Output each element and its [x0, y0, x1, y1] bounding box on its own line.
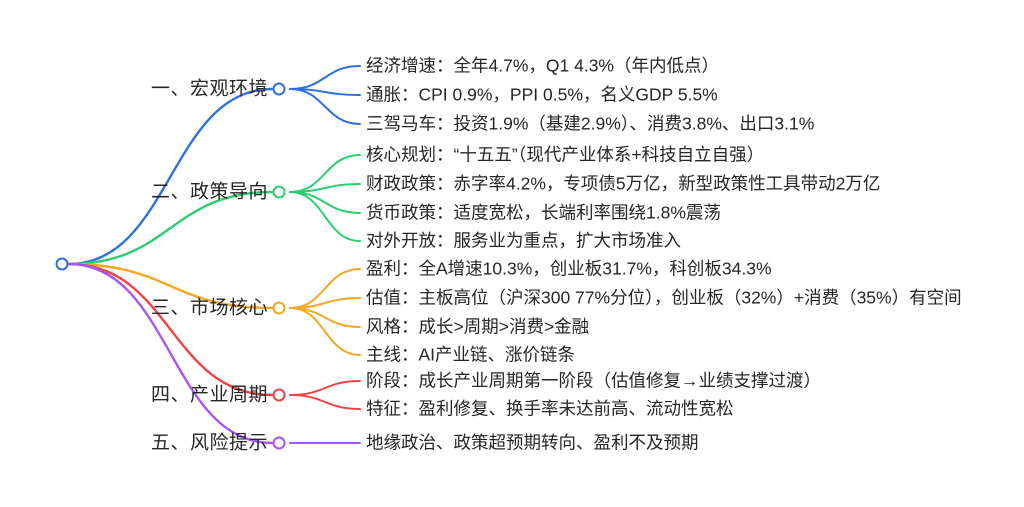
branch-label-2[interactable]: 二、政策导向 [151, 183, 268, 202]
edge-path [290, 89, 360, 95]
leaf-label-3-4[interactable]: 主线：AI产业链、涨价链条 [366, 346, 575, 364]
mindmap-canvas: 经济增速：全年4.7%，Q1 4.3%（年内低点）通胀：CPI 0.9%，PPI… [0, 0, 1024, 507]
branch-label-3[interactable]: 三、市场核心 [151, 299, 268, 318]
edge-path [290, 395, 360, 409]
branch-label-5[interactable]: 五、风险提示 [151, 434, 268, 453]
edge-path [69, 192, 272, 264]
branch-node-dot-2[interactable] [273, 186, 286, 199]
edge-path [290, 269, 360, 308]
edge-path [290, 89, 360, 124]
leaf-label-3-1[interactable]: 盈利：全A增速10.3%，创业板31.7%，科创板34.3% [366, 260, 772, 278]
leaf-label-2-1[interactable]: 核心规划：“十五五”（现代产业体系+科技自立自强） [366, 146, 764, 164]
edge-path [290, 381, 360, 395]
root-node-dot[interactable] [56, 258, 69, 271]
branch-node-dot-3[interactable] [273, 302, 286, 315]
leaf-label-5-1[interactable]: 地缘政治、政策超预期转向、盈利不及预期 [366, 434, 699, 452]
branch-label-4[interactable]: 四、产业周期 [151, 386, 268, 405]
edge-path [290, 184, 360, 192]
edge-path [290, 298, 360, 308]
edge-path [69, 264, 272, 395]
branch-label-1[interactable]: 一、宏观环境 [151, 80, 268, 99]
leaf-label-1-3[interactable]: 三驾马车：投资1.9%（基建2.9%）、消费3.8%、出口3.1% [366, 115, 814, 133]
leaf-label-4-2[interactable]: 特征：盈利修复、换手率未达前高、流动性宽松 [366, 400, 734, 418]
leaf-label-2-4[interactable]: 对外开放：服务业为重点，扩大市场准入 [366, 232, 681, 250]
branch-node-dot-5[interactable] [273, 437, 286, 450]
edge-path [290, 308, 360, 355]
branch-node-dot-1[interactable] [273, 83, 286, 96]
branch-node-dot-4[interactable] [273, 389, 286, 402]
leaf-label-1-1[interactable]: 经济增速：全年4.7%，Q1 4.3%（年内低点） [366, 57, 719, 75]
leaf-label-1-2[interactable]: 通胀：CPI 0.9%，PPI 0.5%，名义GDP 5.5% [366, 86, 718, 104]
edge-path [290, 192, 360, 241]
edge-path [290, 192, 360, 213]
leaf-label-3-3[interactable]: 风格：成长>周期>消费>金融 [366, 318, 589, 336]
leaf-label-3-2[interactable]: 估值：主板高位（沪深300 77%分位），创业板（32%）+消费（35%）有空间 [366, 289, 962, 307]
leaf-label-2-2[interactable]: 财政政策：赤字率4.2%，专项债5万亿，新型政策性工具带动2万亿 [366, 175, 880, 193]
edge-path [69, 264, 272, 443]
edge-path [290, 308, 360, 327]
edge-path [290, 66, 360, 89]
mindmap-edges [0, 0, 1024, 507]
leaf-label-4-1[interactable]: 阶段：成长产业周期第一阶段（估值修复→业绩支撑过渡） [366, 372, 821, 390]
edge-path [69, 89, 272, 264]
edge-path [290, 155, 360, 192]
leaf-label-2-3[interactable]: 货币政策：适度宽松，长端利率围绕1.8%震荡 [366, 204, 721, 222]
